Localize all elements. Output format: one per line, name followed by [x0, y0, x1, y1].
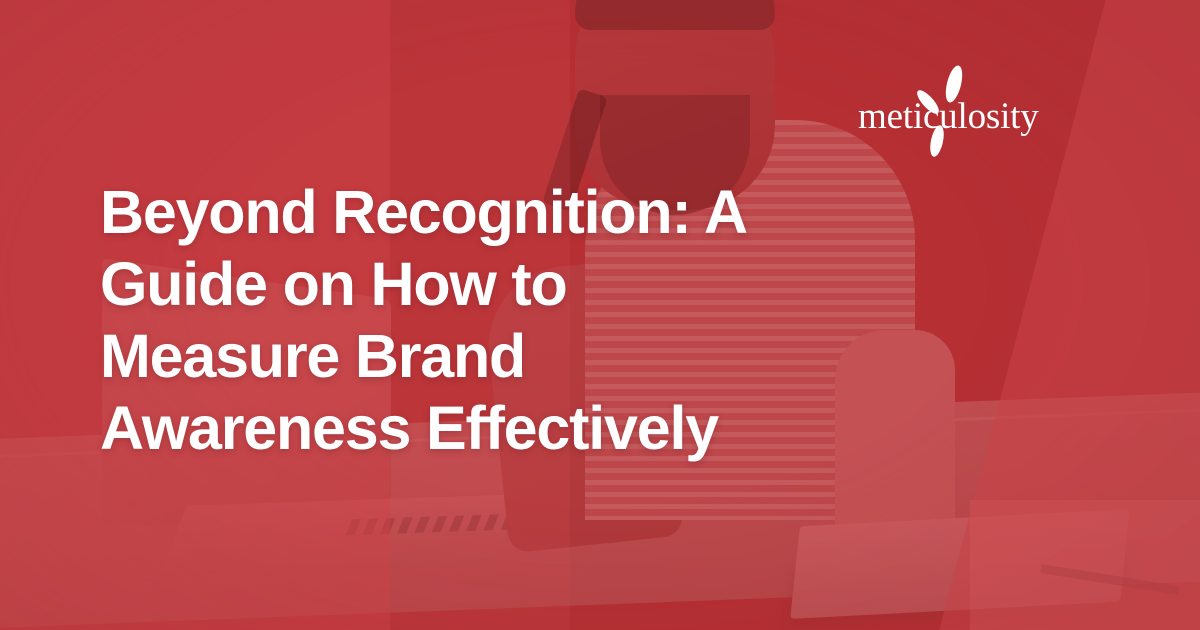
headline-line-3: Measure Brand — [100, 320, 960, 392]
brand-logo[interactable]: meticulosity — [858, 62, 1068, 157]
headline-line-4: Awareness Effectively — [100, 392, 960, 464]
brand-wordmark: meticulosity — [858, 98, 1068, 135]
banner-content: meticulosity Beyond Recognition: A Guide… — [0, 0, 1200, 630]
page-title: Beyond Recognition: A Guide on How to Me… — [100, 176, 960, 464]
blog-hero-banner: meticulosity Beyond Recognition: A Guide… — [0, 0, 1200, 630]
headline-line-2: Guide on How to — [100, 248, 960, 320]
headline-line-1: Beyond Recognition: A — [100, 176, 960, 248]
